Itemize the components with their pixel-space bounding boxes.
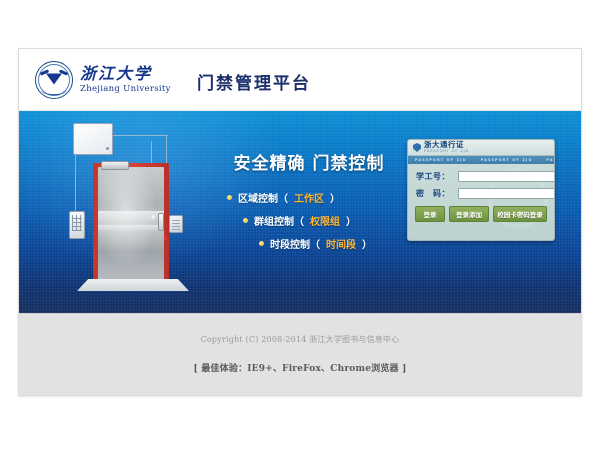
page-title: 门禁管理平台 bbox=[197, 69, 311, 94]
list-item: 群组控制（权限组） bbox=[243, 213, 409, 228]
university-name-cn: 浙江大学 bbox=[80, 66, 171, 82]
login-panel-title: 浙大通行证 bbox=[424, 141, 469, 149]
bullet-text: 时段控制（ bbox=[270, 236, 320, 251]
login-form: 学工号： 密 码： bbox=[408, 164, 554, 199]
watermark-text: PASSPORT OF ZJU bbox=[408, 158, 474, 162]
watermark-text: PASSPORT OF ZJU bbox=[474, 158, 540, 162]
copyright-text: Copyright (C) 2008-2014 浙江大学图书与信息中心 bbox=[19, 314, 581, 345]
hero-banner: 安全精确 门禁控制 区域控制（工作区） 群组控制（权限组） 时段控制（时间段） bbox=[19, 111, 581, 313]
door-closer-icon bbox=[101, 161, 129, 170]
slogan-block: 安全精确 门禁控制 区域控制（工作区） 群组控制（权限组） 时段控制（时间段） bbox=[209, 149, 409, 259]
username-label: 学工号： bbox=[416, 171, 454, 182]
watermark-text: PASSPORT OF ZJU bbox=[539, 158, 554, 162]
door-knob-icon bbox=[151, 215, 157, 221]
university-name-en: Zhejiang University bbox=[80, 85, 171, 94]
banner-slogan: 安全精确 门禁控制 bbox=[209, 149, 409, 174]
login-panel: 浙大通行证 PASSPORT OF ZJU PASSPORT OF ZJU PA… bbox=[407, 139, 555, 241]
bullet-tail: ） bbox=[330, 190, 340, 205]
username-row: 学工号： bbox=[416, 171, 546, 182]
bullet-tail: ） bbox=[362, 236, 372, 251]
access-controller-box-icon bbox=[73, 123, 113, 155]
campus-card-login-button[interactable]: 校园卡密码登录 bbox=[493, 206, 547, 222]
bullet-accent: 工作区 bbox=[294, 190, 324, 205]
card-reader-icon bbox=[169, 215, 183, 233]
browser-support-note: [ 最佳体验：IE9+、FireFox、Chrome浏览器 ] bbox=[19, 361, 581, 374]
keypad-reader-icon bbox=[69, 211, 85, 239]
feature-bullet-list: 区域控制（工作区） 群组控制（权限组） 时段控制（时间段） bbox=[209, 190, 409, 251]
bullet-dot-icon bbox=[227, 195, 232, 200]
password-row: 密 码： bbox=[416, 188, 546, 199]
university-logo-lockup[interactable]: 浙江大学 Zhejiang University bbox=[35, 61, 171, 99]
door-leaf bbox=[98, 167, 164, 281]
university-names: 浙江大学 Zhejiang University bbox=[80, 66, 171, 94]
bullet-dot-icon bbox=[259, 241, 264, 246]
bullet-text: 群组控制（ bbox=[254, 213, 304, 228]
zju-seal-icon bbox=[35, 61, 73, 99]
site-header: 浙江大学 Zhejiang University 门禁管理平台 bbox=[19, 49, 581, 111]
login-button[interactable]: 登录 bbox=[415, 206, 445, 222]
site-footer: Copyright (C) 2008-2014 浙江大学图书与信息中心 [ 最佳… bbox=[19, 313, 581, 396]
login-add-button[interactable]: 登录添加 bbox=[449, 206, 489, 222]
password-label: 密 码： bbox=[416, 188, 454, 199]
login-watermark-strip: PASSPORT OF ZJU PASSPORT OF ZJU PASSPORT… bbox=[408, 156, 554, 164]
app-page: 浙江大学 Zhejiang University 门禁管理平台 bbox=[18, 48, 582, 396]
bullet-dot-icon bbox=[243, 218, 248, 223]
login-panel-subtitle: PASSPORT OF ZJU bbox=[424, 150, 469, 154]
login-button-group: 登录 登录添加 校园卡密码登录 bbox=[408, 205, 554, 222]
security-door-icon bbox=[93, 163, 169, 281]
bullet-tail: ） bbox=[346, 213, 356, 228]
bullet-accent: 时间段 bbox=[326, 236, 356, 251]
door-handle-icon bbox=[158, 213, 164, 231]
wire-top bbox=[110, 135, 168, 138]
list-item: 时段控制（时间段） bbox=[259, 236, 409, 251]
door-status-led bbox=[164, 235, 167, 240]
login-panel-header: 浙大通行证 PASSPORT OF ZJU bbox=[408, 140, 554, 156]
username-input[interactable] bbox=[458, 171, 555, 182]
list-item: 区域控制（工作区） bbox=[227, 190, 409, 205]
bullet-text: 区域控制（ bbox=[238, 190, 288, 205]
access-control-illustration bbox=[51, 119, 201, 309]
floor-plate bbox=[77, 279, 189, 291]
wire-left bbox=[75, 153, 78, 211]
bullet-accent: 权限组 bbox=[310, 213, 340, 228]
password-input[interactable] bbox=[458, 188, 555, 199]
shield-icon bbox=[413, 143, 421, 152]
